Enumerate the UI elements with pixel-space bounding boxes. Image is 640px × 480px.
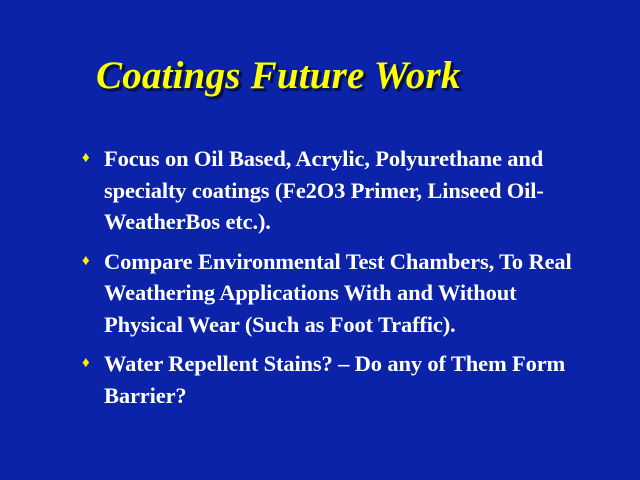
list-item: ♦ Water Repellent Stains? – Do any of Th…	[82, 348, 582, 411]
presentation-slide: Coatings Future Work ♦ Focus on Oil Base…	[0, 0, 640, 480]
list-item-label: Water Repellent Stains? – Do any of Them…	[104, 348, 582, 411]
diamond-bullet-icon: ♦	[82, 143, 96, 175]
diamond-bullet-icon: ♦	[82, 348, 96, 380]
list-item-label: Compare Environmental Test Chambers, To …	[104, 246, 582, 341]
list-item-label: Focus on Oil Based, Acrylic, Polyurethan…	[104, 143, 582, 238]
page-title: Coatings Future Work	[96, 56, 461, 97]
list-item: ♦ Focus on Oil Based, Acrylic, Polyureth…	[82, 143, 582, 238]
bullet-list: ♦ Focus on Oil Based, Acrylic, Polyureth…	[82, 143, 582, 411]
list-item: ♦ Compare Environmental Test Chambers, T…	[82, 246, 582, 341]
diamond-bullet-icon: ♦	[82, 246, 96, 278]
